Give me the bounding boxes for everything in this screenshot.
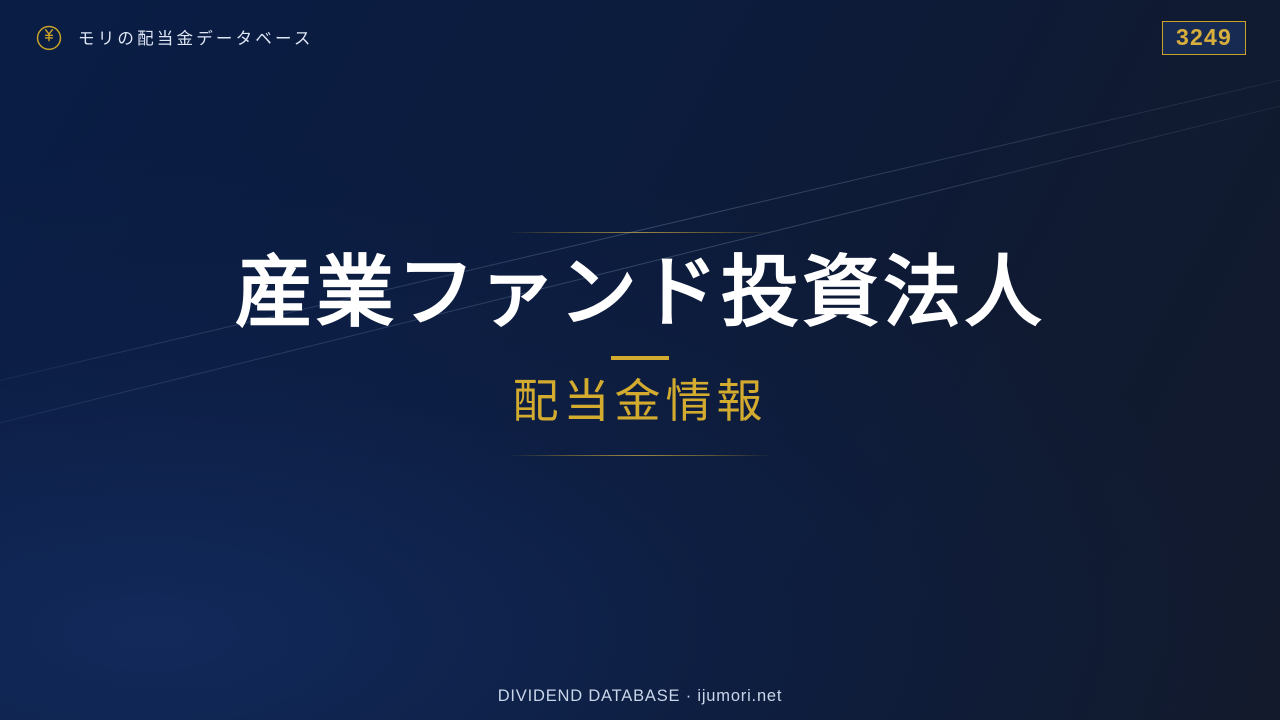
- brand-name: モリの配当金データベース: [78, 25, 314, 49]
- footer-text: DIVIDEND DATABASE · ijumori.net: [0, 687, 1280, 706]
- page-header: モリの配当金データベース 3249: [0, 0, 1280, 74]
- title-slide: モリの配当金データベース 3249 産業ファンド投資法人 配当金情報 DIVID…: [0, 0, 1280, 720]
- divider-bottom: [508, 455, 772, 456]
- company-title: 産業ファンド投資法人: [0, 251, 1280, 334]
- divider-top: [508, 232, 772, 233]
- ticker-code-badge: 3249: [1162, 21, 1246, 55]
- title-block: 産業ファンド投資法人 配当金情報: [0, 232, 1280, 456]
- brand: モリの配当金データベース: [34, 22, 314, 52]
- page-subtitle: 配当金情報: [0, 376, 1280, 428]
- yen-circle-icon: [34, 22, 64, 52]
- gold-dash-separator: [611, 356, 669, 360]
